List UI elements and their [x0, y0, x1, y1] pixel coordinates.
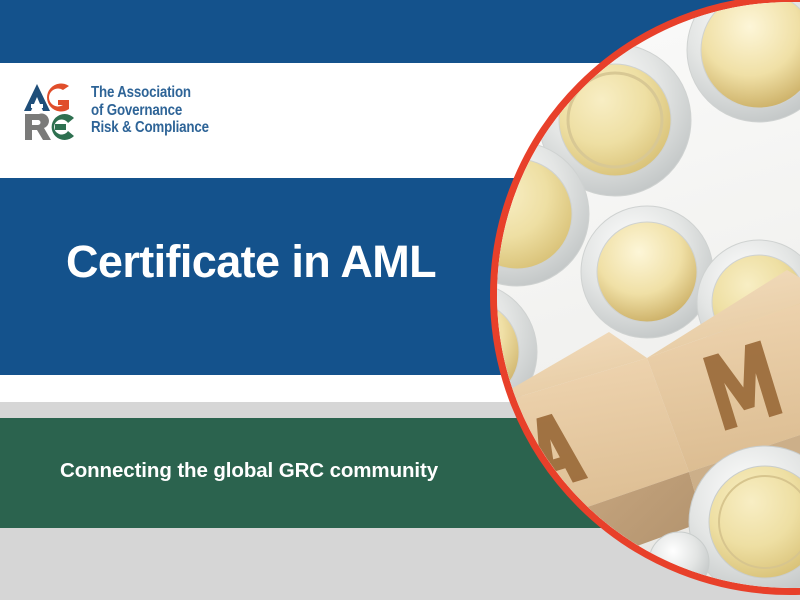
agrc-logo-wordmark: The Association of Governance Risk & Com…	[91, 84, 209, 137]
logo-line-3: Risk & Compliance	[91, 119, 209, 137]
banner-title: Certificate in AML	[66, 236, 436, 288]
logo-letter-a-icon	[24, 84, 50, 111]
logo-letter-c-icon	[52, 114, 74, 140]
logo-letter-r-icon	[25, 114, 51, 140]
logo-letter-g-icon	[47, 84, 72, 112]
promotional-banner: The Association of Governance Risk & Com…	[0, 0, 800, 600]
agrc-logo: The Association of Governance Risk & Com…	[22, 82, 228, 142]
logo-line-1: The Association	[91, 84, 209, 102]
agrc-logo-mark	[22, 82, 84, 142]
banner-tagline: Connecting the global GRC community	[60, 459, 438, 483]
logo-line-2: of Governance	[91, 102, 209, 120]
